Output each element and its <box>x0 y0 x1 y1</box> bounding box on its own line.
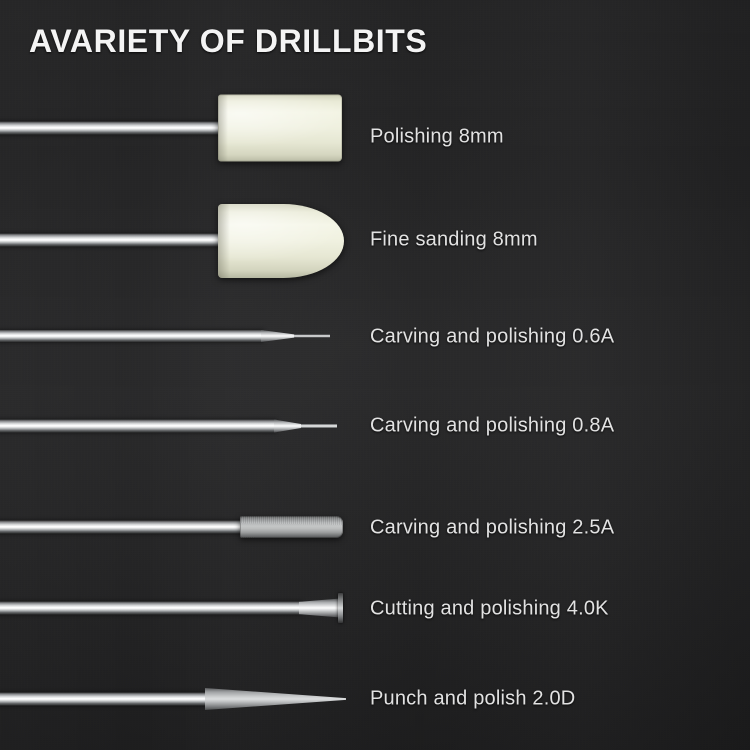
carving-needle-tip <box>301 424 337 428</box>
drillbit-label: Carving and polishing 0.8A <box>370 415 614 438</box>
drillbit-label: Carving and polishing 2.5A <box>370 517 614 540</box>
page-title: AVARIETY OF DRILLBITS <box>29 23 427 60</box>
cutting-taper-cone <box>299 599 340 618</box>
drillbit-label: Carving and polishing 0.6A <box>370 326 614 349</box>
drillbit-shaft <box>0 122 224 135</box>
carving-taper-cone <box>261 330 297 342</box>
punch-point-head <box>205 688 346 710</box>
carving-taper-cone <box>274 420 304 433</box>
grit-barrel-head <box>240 516 343 538</box>
carving-needle-tip <box>294 335 330 338</box>
drillbit-shaft <box>0 234 224 247</box>
product-infographic: AVARIETY OF DRILLBITS Polishing 8mm Fine… <box>0 0 750 750</box>
drillbit-shaft <box>0 693 208 706</box>
drillbit-label: Fine sanding 8mm <box>370 229 538 252</box>
drillbit-label: Cutting and polishing 4.0K <box>370 598 609 621</box>
drillbit-label: Polishing 8mm <box>370 126 504 149</box>
drillbit-shaft <box>0 521 244 534</box>
drillbit-label: Punch and polish 2.0D <box>370 688 575 711</box>
fine-sanding-bullet-head <box>218 204 344 278</box>
drillbit-shaft <box>0 602 302 615</box>
cutting-disc-head <box>338 593 343 623</box>
drillbit-shaft <box>0 420 277 433</box>
drillbit-shaft <box>0 330 264 342</box>
polishing-cylinder-head <box>218 95 342 162</box>
